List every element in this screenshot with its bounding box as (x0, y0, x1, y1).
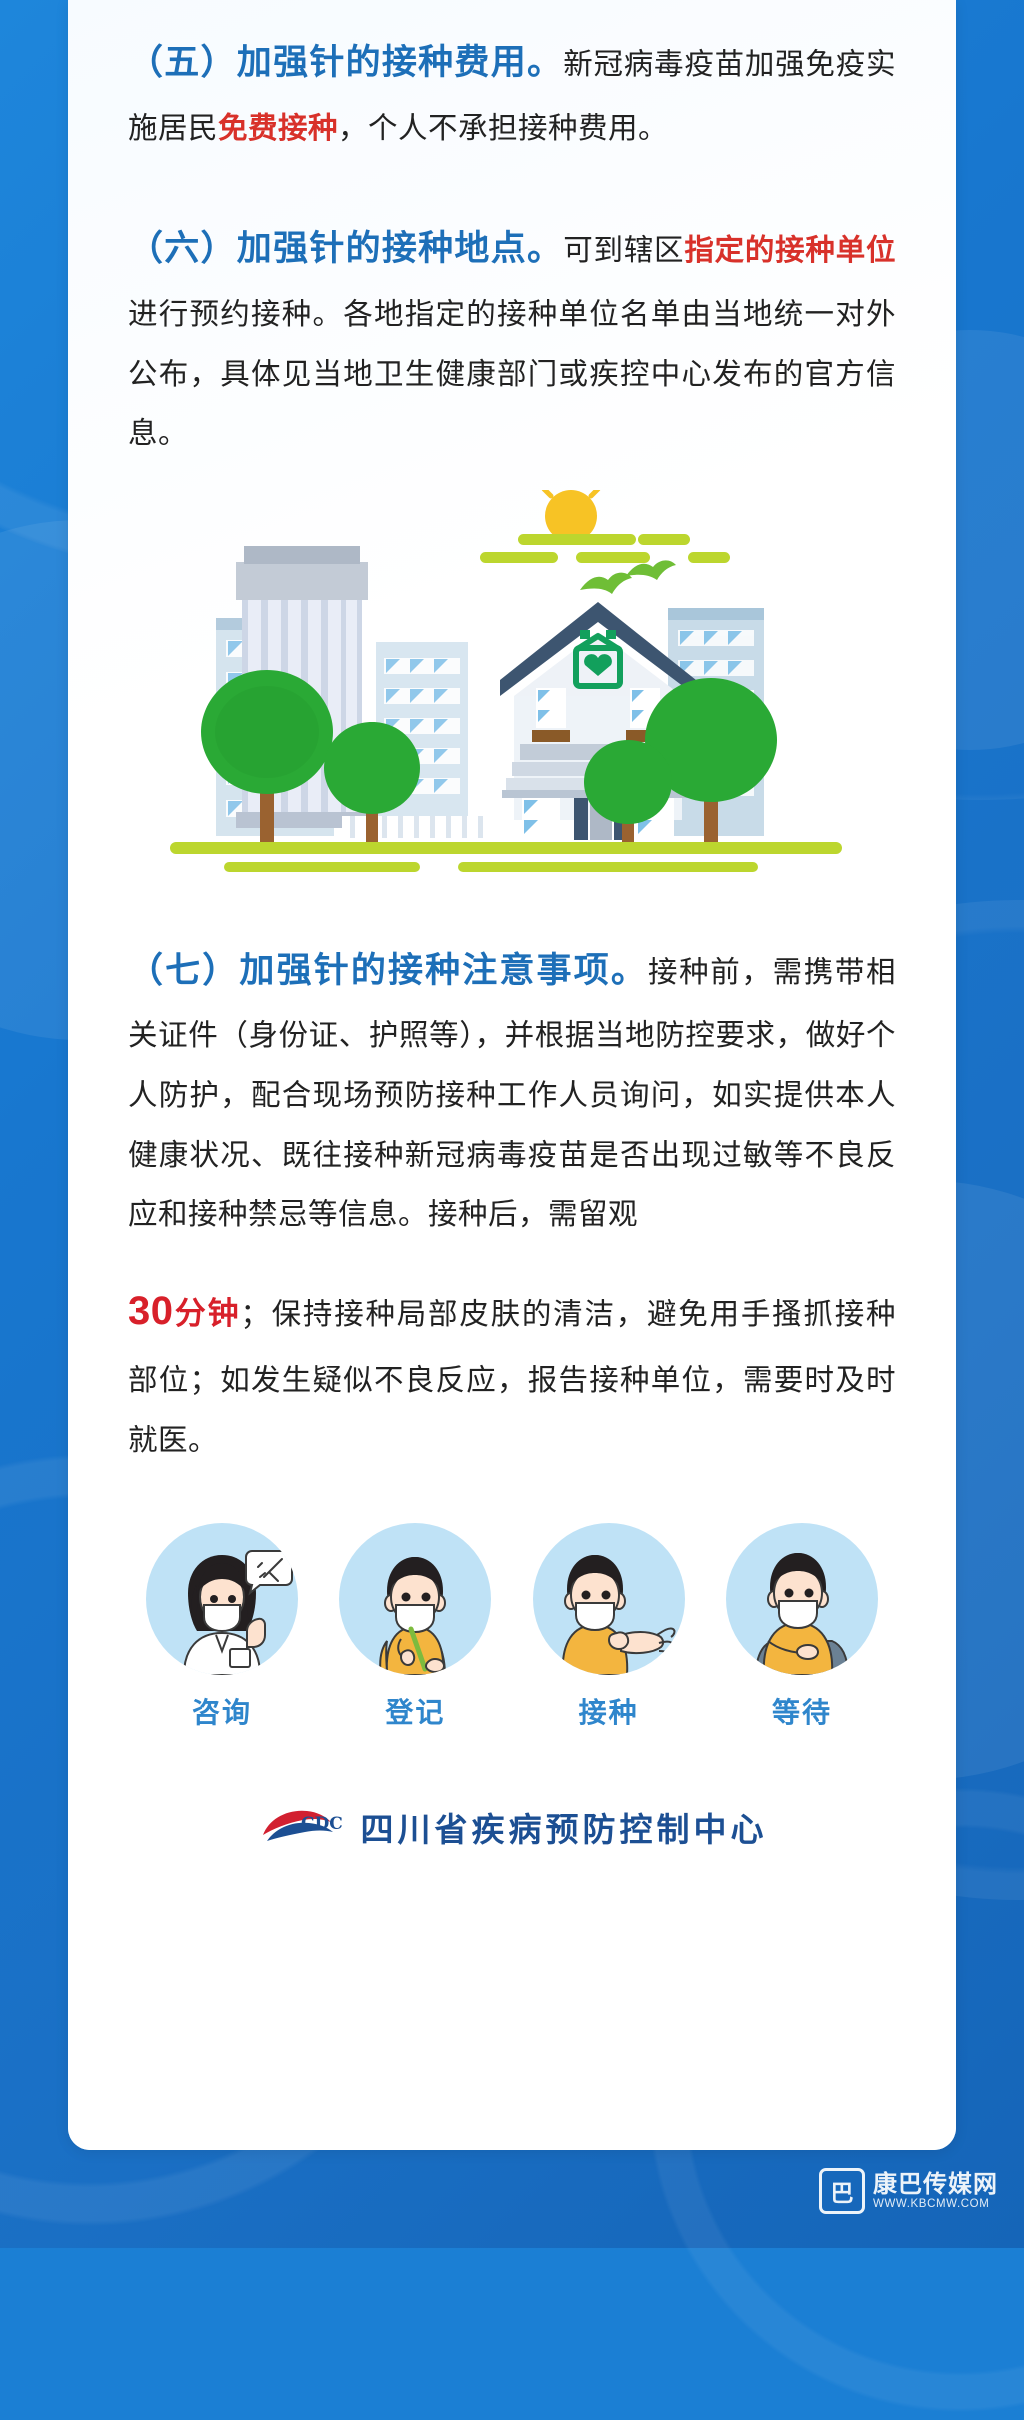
section-five-highlight: 免费接种 (218, 112, 338, 145)
watermark: 巴 康巴传媒网 WWW.KBCMW.COM (819, 2168, 998, 2214)
watermark-mark: 巴 (819, 2168, 865, 2214)
step-inject: 接种 (521, 1523, 697, 1731)
section-six: （六）加强针的接种地点。可到辖区指定的接种单位进行预约接种。各地指定的接种单位名… (128, 214, 896, 463)
consult-icon (146, 1523, 298, 1675)
observation-minutes-unit: 分钟 (174, 1296, 241, 1331)
cdc-logo-text: CDC (301, 1814, 343, 1834)
section-five-heading: （五）加强针的接种费用。 (128, 43, 563, 82)
vaccination-steps: 咨询 (134, 1523, 890, 1731)
step-register-label: 登记 (327, 1691, 503, 1731)
section-seven-text: 种前，需携带相关证件（身份证、护照等），并根据当地防控要求，做好个人防护，配合现… (128, 956, 896, 1231)
section-five-lead: 新冠病毒 (563, 48, 684, 81)
watermark-title: 康巴传媒网 (873, 2172, 998, 2197)
step-inject-label: 接种 (521, 1691, 697, 1731)
section-six-heading: （六）加强针的接种地点。 (128, 229, 563, 268)
section-seven-lead: 接 (648, 956, 679, 989)
organization-name: 四川省疾病预防控制中心 (361, 1803, 768, 1851)
step-consult: 咨询 (134, 1523, 310, 1731)
poster-card: （五）加强针的接种费用。新冠病毒疫苗加强免疫实施居民免费接种，个人不承担接种费用… (68, 0, 956, 2150)
section-six-highlight: 指定的接种单位 (684, 234, 896, 267)
register-icon (339, 1523, 491, 1675)
birds-icon (580, 560, 676, 594)
section-seven-rest: ；保持接种局部皮肤的清洁，避免用手搔抓接种部位；如发生疑似不良反应，报告接种单位… (128, 1298, 896, 1457)
section-five: （五）加强针的接种费用。新冠病毒疫苗加强免疫实施居民免费接种，个人不承担接种费用… (128, 28, 896, 158)
cloud-strokes (480, 534, 730, 563)
section-seven-heading: （七）加强针的接种注意事项。 (128, 951, 648, 990)
watermark-url: WWW.KBCMW.COM (873, 2198, 998, 2210)
fence (342, 816, 488, 838)
vaccination-clinic-illustration (128, 490, 896, 880)
section-six-lead: 可到辖区 (563, 234, 684, 267)
step-consult-label: 咨询 (134, 1691, 310, 1731)
observation-minutes-number: 30 (128, 1289, 174, 1333)
section-seven-second-paragraph: 30分钟；保持接种局部皮肤的清洁，避免用手搔抓接种部位；如发生疑似不良反应，报告… (128, 1271, 896, 1471)
cdc-logo-icon: CDC (257, 1799, 343, 1855)
ground-lines (170, 842, 842, 872)
wait-icon (726, 1523, 878, 1675)
step-wait: 等待 (714, 1523, 890, 1731)
footer: CDC 四川省疾病预防控制中心 (128, 1799, 896, 1855)
section-six-text: 进行预约接种。各地指定的接种单位名单由当地统一对外公布，具体见当地卫生健康部门或… (128, 298, 896, 450)
step-wait-label: 等待 (714, 1691, 890, 1731)
inject-icon (533, 1523, 685, 1675)
section-seven: （七）加强针的接种注意事项。接种前，需携带相关证件（身份证、护照等），并根据当地… (128, 936, 896, 1245)
step-register: 登记 (327, 1523, 503, 1731)
section-five-text-2: ，个人不承担接种费用。 (338, 112, 668, 145)
